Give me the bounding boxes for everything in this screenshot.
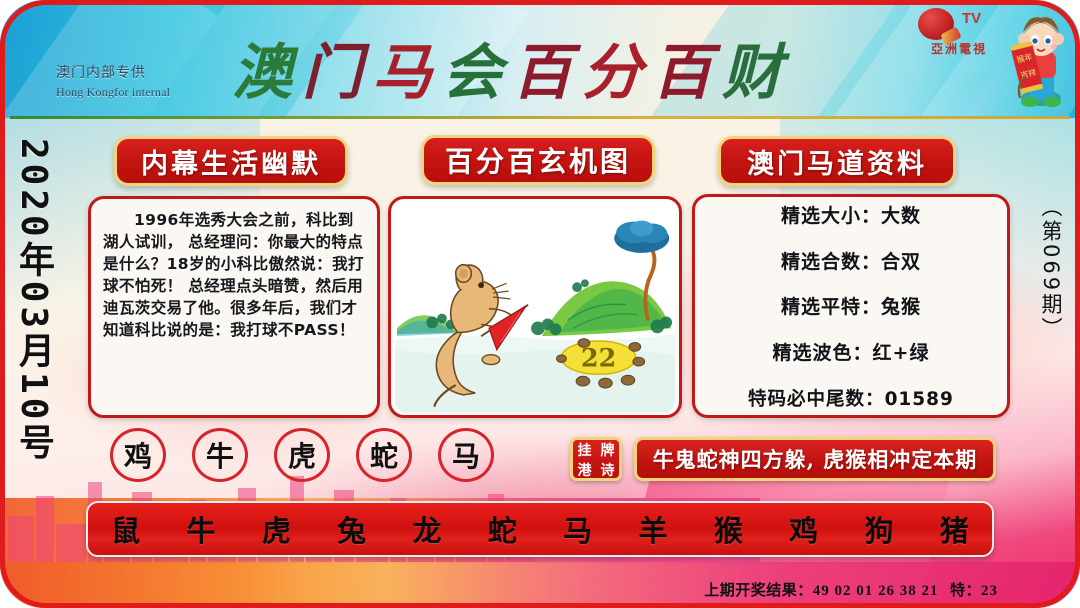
title-char-6: 分	[582, 24, 652, 111]
zodiac-pick-5[interactable]: 马	[438, 428, 494, 482]
info-row-color: 精选波色：红+绿	[705, 344, 997, 364]
atv-logo-icon: TV	[904, 8, 1014, 42]
zodiac-full-strip: 鼠 牛 虎 兔 龙 蛇 马 羊 猴 鸡 狗 猪	[86, 501, 994, 557]
info-value-sum: 合双	[881, 251, 921, 273]
results-special-label: 特：	[950, 581, 981, 599]
header-subtitle-en: Hong Kongfor internal	[56, 85, 170, 100]
mascot-monkey-icon: 猴年 吉祥	[1008, 6, 1074, 114]
story-card: 1996年选秀大会之前，科比到湖人试训， 总经理问：你最大的特点是什么？18岁的…	[88, 196, 380, 418]
info-value-tail: 01589	[885, 389, 954, 410]
title-char-2: 门	[302, 24, 372, 111]
guapai-char-2: 牌	[601, 440, 615, 460]
info-row-sum: 精选合数：合双	[705, 253, 997, 273]
info-row-tail: 特码必中尾数：01589	[705, 390, 997, 409]
zodiac-item-9[interactable]: 猴	[714, 508, 743, 550]
zodiac-item-11[interactable]: 狗	[864, 508, 893, 550]
zodiac-item-6[interactable]: 蛇	[488, 508, 517, 550]
info-value-size: 大数	[881, 205, 921, 227]
zodiac-item-5[interactable]: 龙	[412, 508, 441, 550]
title-char-3: 马	[372, 24, 442, 111]
zodiac-item-10[interactable]: 鸡	[789, 508, 818, 550]
rat-with-red-flag-illustration: 22	[395, 203, 675, 413]
info-label-tail: 特码必中尾数：	[748, 389, 885, 410]
poster-root: 澳门内部专供 Hong Kongfor internal 澳门马会百分百财 TV…	[0, 0, 1080, 608]
section-title-macau-data: 澳门马道资料	[718, 136, 956, 186]
story-text: 1996年选秀大会之前，科比到湖人试训， 总经理问：你最大的特点是什么？18岁的…	[91, 199, 377, 349]
section-title-humor: 内幕生活幽默	[114, 136, 348, 186]
results-line: 上期开奖结果：49 02 01 26 38 21 特：23	[704, 579, 998, 600]
zodiac-item-3[interactable]: 虎	[262, 508, 291, 550]
date-vertical-text: 2020年03月10号	[7, 138, 59, 463]
page-title: 澳门马会百分百财	[232, 24, 792, 111]
info-label-sum: 精选合数：	[781, 251, 881, 273]
results-label: 上期开奖结果：	[704, 581, 813, 599]
title-char-5: 百	[512, 24, 582, 111]
zodiac-pick-4[interactable]: 蛇	[356, 428, 412, 482]
zodiac-pick-3[interactable]: 虎	[274, 428, 330, 482]
info-row-size: 精选大小：大数	[705, 207, 997, 227]
info-card: 精选大小：大数 精选合数：合双 精选平特：兔猴 精选波色：红+绿 特码必中尾数：…	[692, 194, 1010, 418]
results-special-value: 23	[981, 583, 998, 599]
info-value-color: 红+绿	[873, 342, 930, 364]
header-subtitle: 澳门内部专供 Hong Kongfor internal	[56, 62, 170, 100]
zodiac-item-7[interactable]: 马	[563, 508, 592, 550]
zodiac-item-2[interactable]: 牛	[186, 508, 215, 550]
guapai-char-4: 诗	[601, 460, 615, 480]
results-numbers: 49 02 01 26 38 21	[813, 583, 939, 599]
svg-text:22: 22	[581, 343, 616, 373]
header-separator	[10, 116, 1070, 119]
info-row-pingte: 精选平特：兔猴	[705, 298, 997, 318]
guapai-char-1: 挂	[578, 440, 592, 460]
header-subtitle-cn: 澳门内部专供	[56, 62, 170, 82]
info-list: 精选大小：大数 精选合数：合双 精选平特：兔猴 精选波色：红+绿 特码必中尾数：…	[695, 197, 1007, 415]
zodiac-picks-row: 鸡 牛 虎 蛇 马	[110, 428, 494, 482]
atv-logo: TV 亞洲電視	[904, 8, 1014, 57]
info-label-color: 精选波色：	[773, 342, 873, 364]
info-label-pingte: 精选平特：	[781, 296, 881, 318]
info-value-pingte: 兔猴	[881, 296, 921, 318]
zodiac-pick-1[interactable]: 鸡	[110, 428, 166, 482]
guapai-label: 挂 牌 港 诗	[570, 437, 622, 481]
illustration-card: 22	[388, 196, 682, 418]
atv-tv-label: TV	[962, 10, 981, 27]
issue-vertical-text: （第069期）	[1036, 196, 1066, 341]
section-title-mystery-picture: 百分百玄机图	[421, 135, 655, 185]
zodiac-item-4[interactable]: 兔	[337, 508, 366, 550]
guapai-banner-text: 牛鬼蛇神四方躲, 虎猴相冲定本期	[634, 437, 996, 481]
zodiac-item-1[interactable]: 鼠	[111, 508, 140, 550]
title-char-4: 会	[442, 24, 512, 111]
guapai-char-3: 港	[578, 460, 592, 480]
zodiac-item-12[interactable]: 猪	[940, 508, 969, 550]
zodiac-item-8[interactable]: 羊	[638, 508, 667, 550]
zodiac-pick-2[interactable]: 牛	[192, 428, 248, 482]
date-vertical: 2020年03月10号	[6, 138, 60, 538]
info-label-size: 精选大小：	[781, 205, 881, 227]
issue-vertical: （第069期）	[1036, 196, 1066, 416]
title-char-1: 澳	[232, 24, 302, 111]
title-char-8: 财	[722, 24, 792, 111]
title-char-7: 百	[652, 24, 722, 111]
atv-chinese-label: 亞洲電視	[904, 40, 1014, 57]
